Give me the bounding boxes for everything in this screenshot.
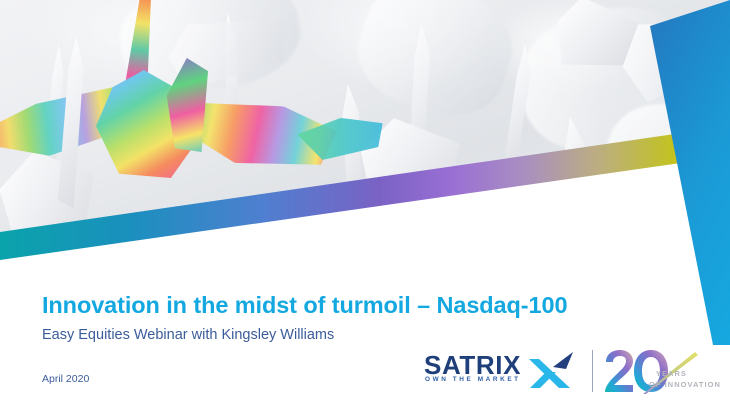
satrix-wordmark: SATRIX bbox=[424, 352, 521, 378]
satrix-x-swoosh-icon bbox=[526, 350, 576, 390]
slide-date: April 2020 bbox=[42, 373, 89, 385]
anniversary-innovation-label: OF INNOVATION bbox=[649, 380, 723, 391]
anniversary-years-label: YEARS bbox=[649, 369, 723, 380]
page-title: Innovation in the midst of turmoil – Nas… bbox=[42, 292, 567, 319]
logo-divider bbox=[592, 350, 593, 392]
satrix-tagline: OWN THE MARKET bbox=[425, 377, 521, 383]
page-subtitle: Easy Equities Webinar with Kingsley Will… bbox=[42, 327, 334, 343]
presentation-slide: Innovation in the midst of turmoil – Nas… bbox=[0, 0, 730, 408]
hero-image bbox=[0, 0, 730, 250]
paper-fold bbox=[345, 0, 525, 130]
satrix-logo: SATRIX OWN THE MARKET bbox=[424, 352, 574, 392]
anniversary-caption: YEARS OF INNOVATION bbox=[649, 369, 723, 390]
anniversary-logo: YEARS OF INNOVATION bbox=[603, 350, 721, 394]
origami-cranes-photo bbox=[0, 0, 730, 250]
